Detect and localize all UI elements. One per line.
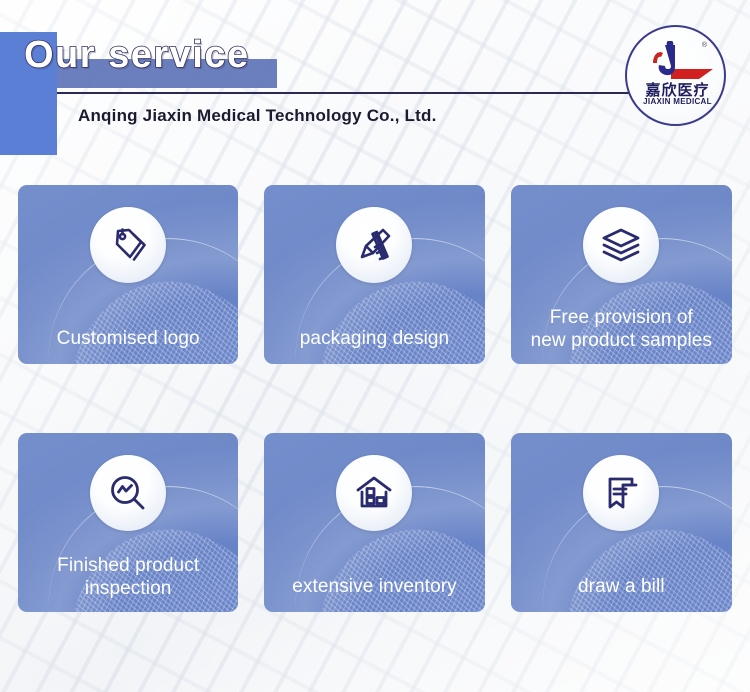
icon-badge xyxy=(583,207,659,283)
service-page: Our service Anqing Jiaxin Medical Techno… xyxy=(0,0,750,692)
layers-icon xyxy=(600,224,642,266)
company-name: Anqing Jiaxin Medical Technology Co., Lt… xyxy=(78,106,437,126)
tags-icon xyxy=(107,224,149,266)
service-card-extensive-inventory[interactable]: extensive inventory xyxy=(264,433,484,612)
service-card-draw-a-bill[interactable]: draw a bill xyxy=(511,433,732,612)
logo-english-name: JIAXIN MEDICAL xyxy=(627,97,726,106)
service-card-product-inspection[interactable]: Finished product inspection xyxy=(18,433,238,612)
service-card-grid: Customised logo packaging design xyxy=(18,185,732,612)
magnifier-chart-icon xyxy=(107,472,149,514)
logo-mark-icon xyxy=(627,41,726,81)
company-logo: ® 嘉欣医疗 JIAXIN MEDICAL xyxy=(625,25,726,126)
service-row-top: Customised logo packaging design xyxy=(18,185,732,364)
icon-badge xyxy=(583,455,659,531)
card-label: packaging design xyxy=(272,328,476,350)
service-row-bottom: Finished product inspection extensive in… xyxy=(18,433,732,612)
invoice-receipt-icon xyxy=(600,472,642,514)
service-card-customised-logo[interactable]: Customised logo xyxy=(18,185,238,364)
card-label: extensive inventory xyxy=(272,576,476,598)
page-title: Our service xyxy=(24,36,250,74)
icon-badge xyxy=(90,207,166,283)
pen-ruler-icon xyxy=(353,224,395,266)
header-divider xyxy=(57,92,661,94)
card-label: Free provision of new product samples xyxy=(519,307,724,352)
warehouse-boxes-icon xyxy=(353,472,395,514)
icon-badge xyxy=(336,455,412,531)
service-card-packaging-design[interactable]: packaging design xyxy=(264,185,484,364)
card-label: Finished product inspection xyxy=(26,555,230,600)
card-label: Customised logo xyxy=(26,328,230,350)
icon-badge xyxy=(336,207,412,283)
icon-badge xyxy=(90,455,166,531)
service-card-free-samples[interactable]: Free provision of new product samples xyxy=(511,185,732,364)
card-label: draw a bill xyxy=(519,576,724,598)
